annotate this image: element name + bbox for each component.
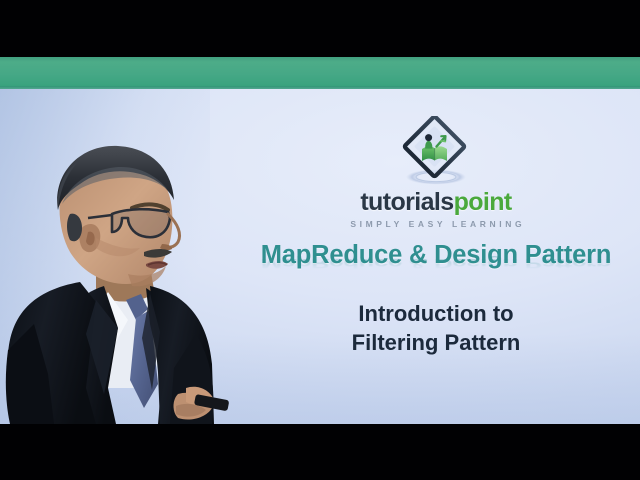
tutorialspoint-diamond-book-logo-icon — [400, 116, 472, 188]
letterbox-bottom — [0, 424, 640, 480]
logo-wordmark-first: tutorials — [360, 188, 453, 216]
slide-subtitle-line-1: Introduction to — [238, 299, 634, 328]
studio-wall-green-stripe — [0, 56, 640, 89]
slide-title-block: MapReduce & Design Pattern MapReduce & D… — [238, 243, 634, 287]
logo-tagline: SIMPLY EASY LEARNING — [238, 219, 634, 229]
logo-wordmark-second: point — [454, 188, 512, 216]
slide-title: MapReduce & Design Pattern — [238, 243, 634, 269]
slide-content: tutorialspoint SIMPLY EASY LEARNING MapR… — [238, 96, 634, 358]
presenter-figure — [0, 88, 275, 424]
logo-wordmark: tutorialspoint — [238, 190, 634, 215]
video-player-frame: tutorialspoint SIMPLY EASY LEARNING MapR… — [0, 0, 640, 480]
slide-subtitle: Introduction to Filtering Pattern — [238, 299, 634, 358]
slide-subtitle-line-2: Filtering Pattern — [238, 328, 634, 357]
letterbox-top — [0, 0, 640, 57]
